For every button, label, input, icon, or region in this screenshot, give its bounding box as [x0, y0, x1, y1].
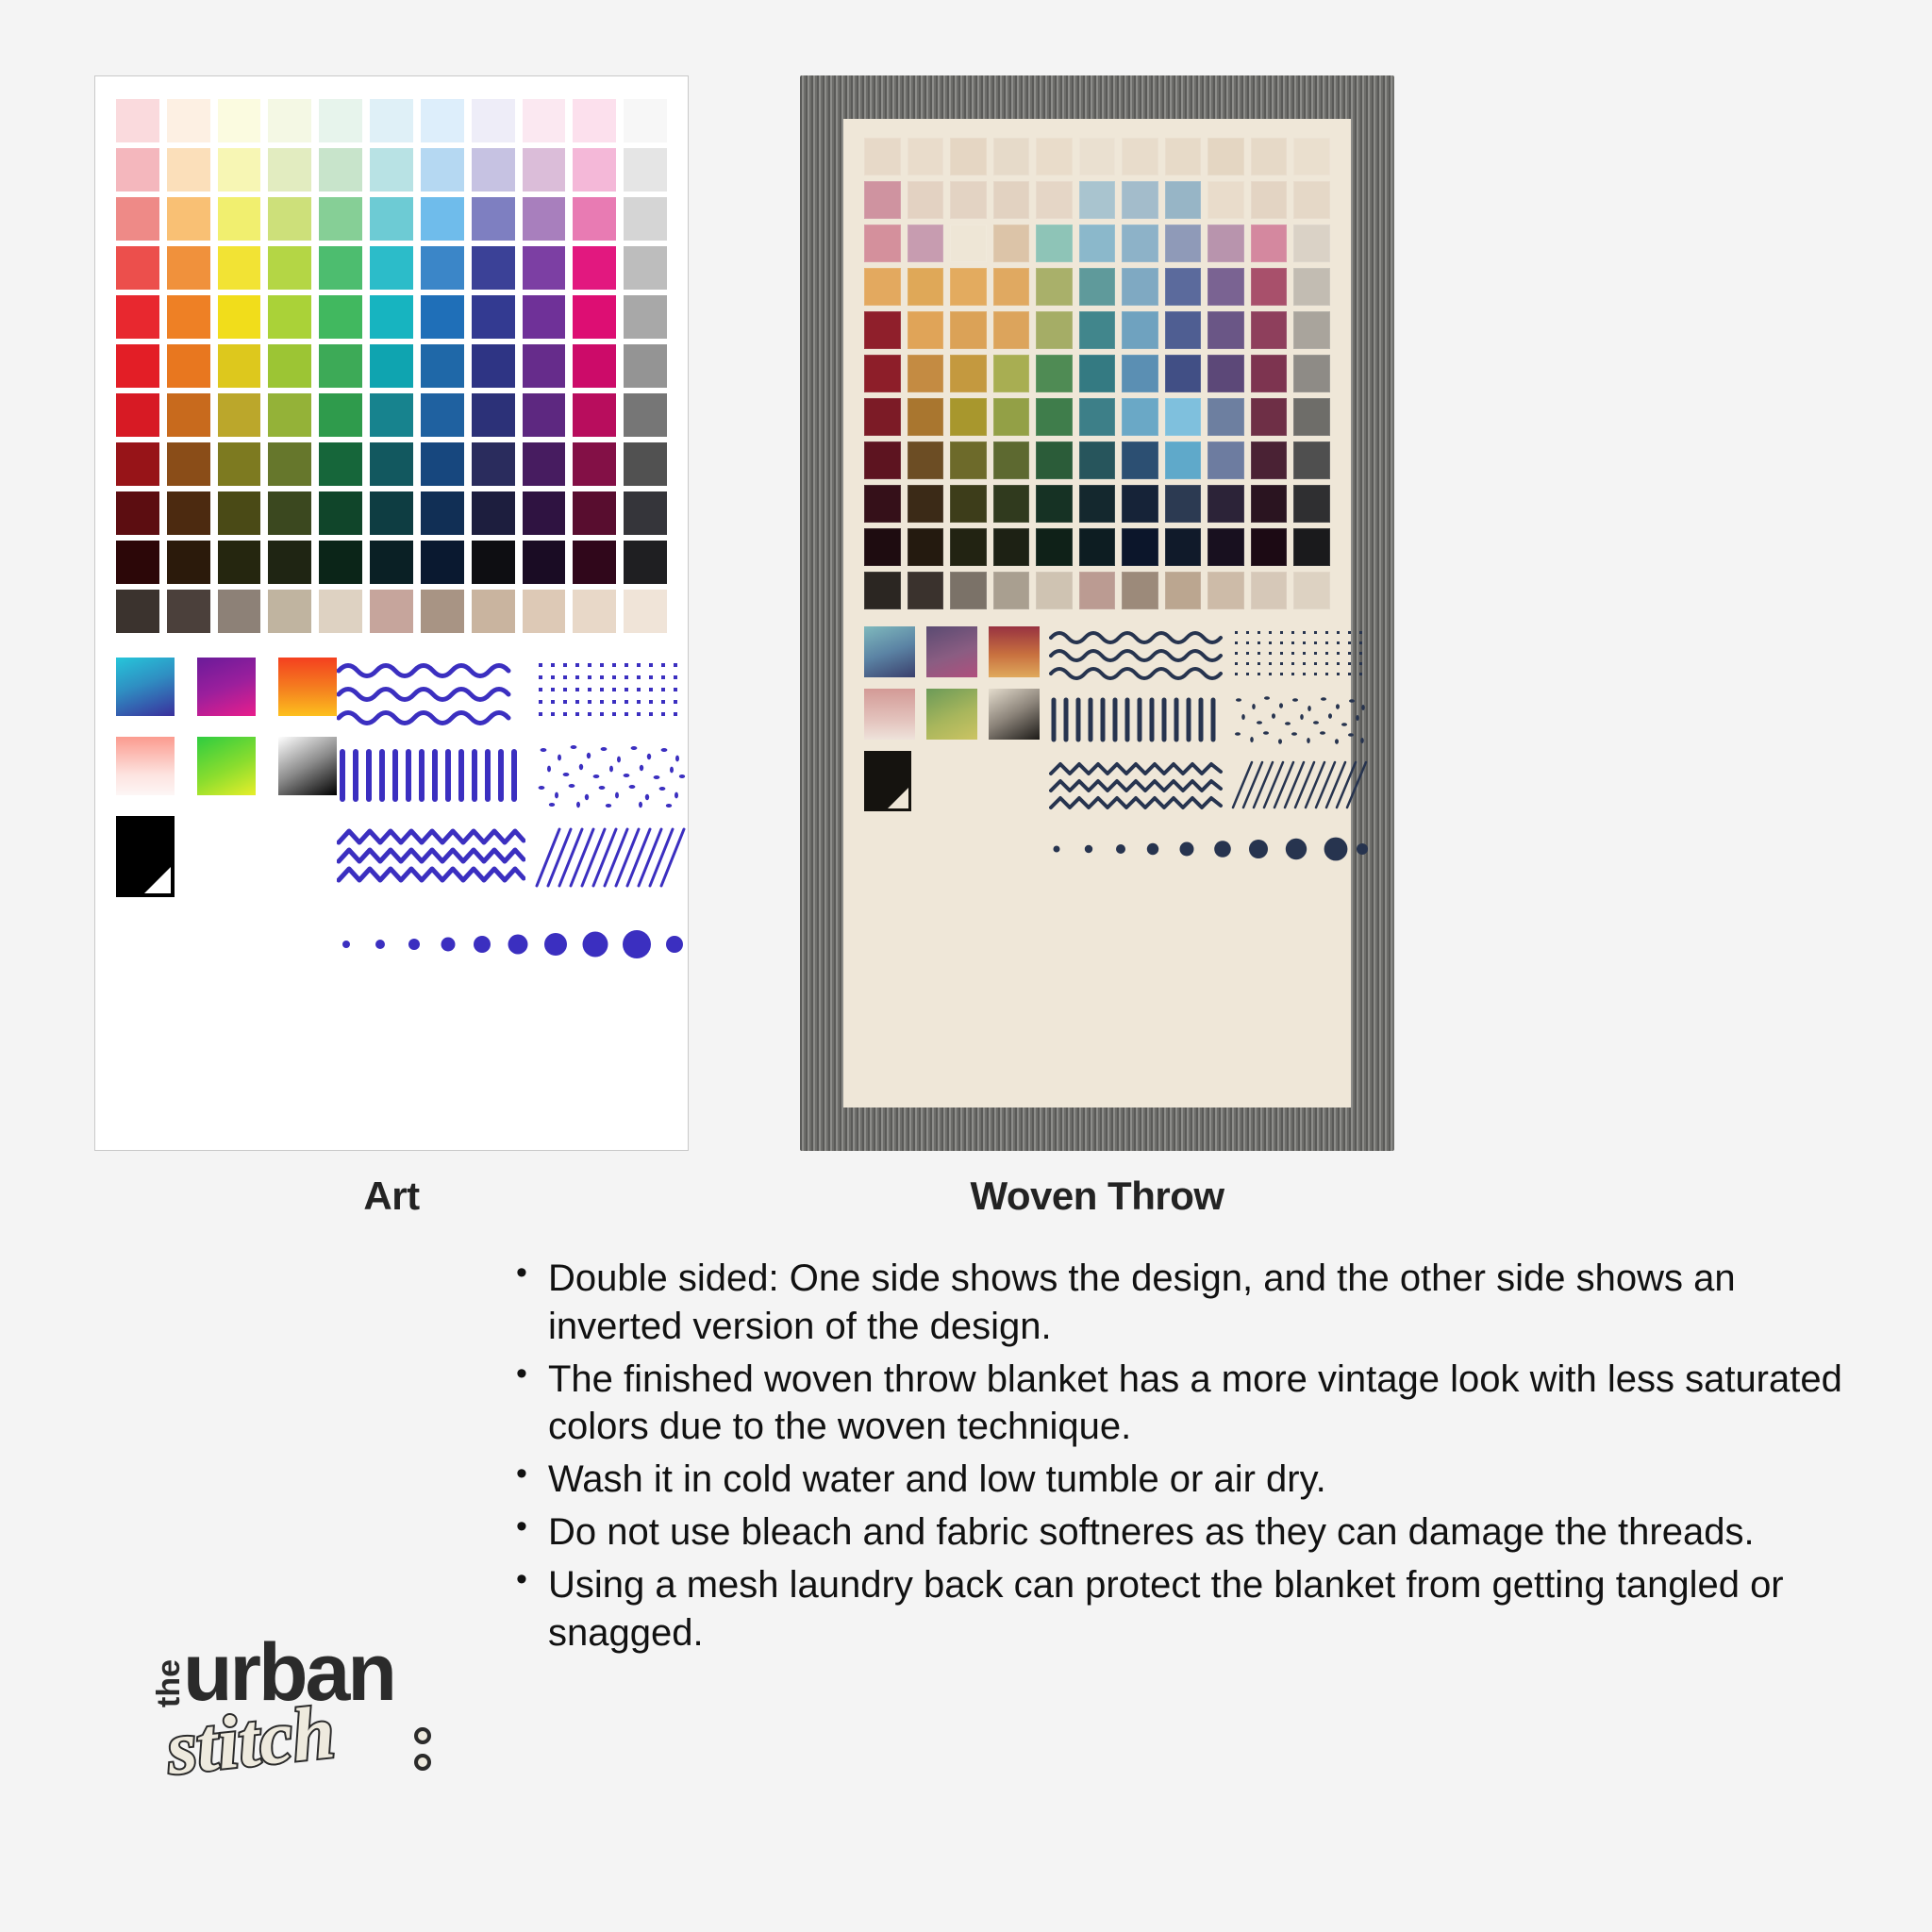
swatch-r5-c5 — [319, 295, 362, 339]
svg-text:the: the — [151, 1659, 187, 1707]
swatch-r2-c4 — [268, 148, 311, 192]
swatch-r8-c7 — [421, 442, 464, 486]
swatch-r8-c9 — [523, 442, 566, 486]
gradient-row-1 — [116, 658, 337, 716]
swatch-r11-c7 — [421, 590, 464, 633]
throw-swatch-r1-c8 — [1165, 138, 1202, 175]
throw-swatch-r11-c8 — [1165, 572, 1202, 609]
throw-pattern-wavy-lines — [1049, 626, 1224, 685]
swatch-r5-c9 — [523, 295, 566, 339]
throw-swatch-r1-c3 — [950, 138, 987, 175]
swatch-r7-c11 — [624, 393, 667, 437]
gradient-salmon-to-white — [116, 737, 175, 795]
throw-swatch-r5-c6 — [1079, 311, 1116, 349]
gradient-green-to-yellow — [197, 737, 256, 795]
list-item: The finished woven throw blanket has a m… — [548, 1356, 1854, 1452]
throw-swatch-r10-c2 — [908, 528, 944, 566]
pattern-row-1 — [337, 658, 686, 731]
product-details-list: Double sided: One side shows the design,… — [514, 1255, 1854, 1661]
throw-swatch-r3-c9 — [1207, 225, 1244, 262]
throw-swatch-r6-c3 — [950, 355, 987, 392]
gradient-purple-to-magenta — [197, 658, 256, 716]
swatch-r10-c9 — [523, 541, 566, 584]
throw-pattern-dot-grid — [1231, 626, 1368, 685]
swatch-r8-c3 — [218, 442, 261, 486]
throw-corner-mark-icon — [864, 751, 911, 811]
throw-swatch-r7-c9 — [1207, 398, 1244, 436]
swatch-r11-c11 — [624, 590, 667, 633]
throw-swatch-r5-c2 — [908, 311, 944, 349]
swatch-r11-c9 — [523, 590, 566, 633]
swatch-r7-c1 — [116, 393, 159, 437]
swatch-r1-c5 — [319, 99, 362, 142]
swatch-r1-c10 — [573, 99, 616, 142]
throw-swatch-r4-c11 — [1293, 268, 1330, 306]
throw-pattern-zigzag-lines — [1049, 755, 1224, 813]
list-item: Using a mesh laundry back can protect th… — [548, 1561, 1854, 1657]
swatch-r6-c9 — [523, 344, 566, 388]
throw-swatch-r10-c9 — [1207, 528, 1244, 566]
pattern-speckle-noise — [535, 739, 686, 812]
throw-pattern-column — [1049, 626, 1368, 866]
throw-swatch-r10-c3 — [950, 528, 987, 566]
swatch-r10-c11 — [624, 541, 667, 584]
throw-swatch-r7-c10 — [1251, 398, 1288, 436]
throw-swatch-r5-c4 — [993, 311, 1030, 349]
swatch-r10-c4 — [268, 541, 311, 584]
throw-swatch-r6-c7 — [1122, 355, 1158, 392]
throw-swatch-r5-c11 — [1293, 311, 1330, 349]
swatch-r7-c4 — [268, 393, 311, 437]
throw-swatch-r3-c1 — [864, 225, 901, 262]
throw-pattern-vertical-stripes — [1049, 691, 1224, 749]
throw-swatch-r4-c7 — [1122, 268, 1158, 306]
throw-swatch-r3-c5 — [1036, 225, 1073, 262]
swatch-r11-c2 — [167, 590, 210, 633]
pattern-vertical-stripes — [337, 739, 525, 812]
throw-swatch-r9-c9 — [1207, 485, 1244, 523]
throw-swatch-r7-c8 — [1165, 398, 1202, 436]
throw-swatch-grid — [864, 138, 1330, 609]
swatch-r6-c3 — [218, 344, 261, 388]
throw-swatch-r11-c11 — [1293, 572, 1330, 609]
swatch-r5-c1 — [116, 295, 159, 339]
pattern-diagonal-hatch — [535, 820, 686, 893]
swatch-r1-c4 — [268, 99, 311, 142]
swatch-r1-c6 — [370, 99, 413, 142]
throw-swatch-r9-c1 — [864, 485, 901, 523]
throw-swatch-r11-c7 — [1122, 572, 1158, 609]
throw-swatch-r4-c1 — [864, 268, 901, 306]
swatch-r4-c3 — [218, 246, 261, 290]
swatch-r6-c1 — [116, 344, 159, 388]
swatch-r7-c2 — [167, 393, 210, 437]
swatch-r1-c11 — [624, 99, 667, 142]
throw-swatch-r9-c2 — [908, 485, 944, 523]
throw-swatch-r10-c6 — [1079, 528, 1116, 566]
swatch-r4-c1 — [116, 246, 159, 290]
swatch-r9-c8 — [472, 491, 515, 535]
art-swatch-grid — [116, 99, 667, 633]
swatch-r6-c11 — [624, 344, 667, 388]
throw-swatch-r6-c4 — [993, 355, 1030, 392]
swatch-r10-c6 — [370, 541, 413, 584]
swatch-r9-c6 — [370, 491, 413, 535]
throw-swatch-r6-c8 — [1165, 355, 1202, 392]
swatch-r2-c10 — [573, 148, 616, 192]
throw-swatch-r7-c7 — [1122, 398, 1158, 436]
swatch-r9-c5 — [319, 491, 362, 535]
throw-swatch-r10-c7 — [1122, 528, 1158, 566]
throw-swatch-r9-c3 — [950, 485, 987, 523]
swatch-r8-c5 — [319, 442, 362, 486]
throw-swatch-r2-c11 — [1293, 181, 1330, 219]
throw-swatch-r9-c7 — [1122, 485, 1158, 523]
list-item: Double sided: One side shows the design,… — [548, 1255, 1854, 1351]
brand-logo[interactable]: the urban stitch — [140, 1594, 451, 1792]
swatch-r11-c6 — [370, 590, 413, 633]
gradient-column — [116, 658, 337, 965]
swatch-r4-c11 — [624, 246, 667, 290]
throw-swatch-r6-c6 — [1079, 355, 1116, 392]
throw-swatch-r5-c5 — [1036, 311, 1073, 349]
throw-swatch-r10-c10 — [1251, 528, 1288, 566]
throw-gradient-cyan-to-indigo — [864, 626, 915, 677]
swatch-r1-c1 — [116, 99, 159, 142]
woven-throw-panel[interactable] — [800, 75, 1394, 1151]
throw-swatch-r6-c5 — [1036, 355, 1073, 392]
throw-swatch-r8-c5 — [1036, 441, 1073, 479]
pattern-dot-grid — [535, 658, 686, 731]
throw-swatch-r7-c4 — [993, 398, 1030, 436]
swatch-r9-c10 — [573, 491, 616, 535]
throw-swatch-r4-c4 — [993, 268, 1030, 306]
swatch-r8-c10 — [573, 442, 616, 486]
swatch-r3-c9 — [523, 197, 566, 241]
corner-mark-icon — [116, 816, 175, 897]
throw-swatch-r6-c10 — [1251, 355, 1288, 392]
swatch-r6-c8 — [472, 344, 515, 388]
swatch-r6-c5 — [319, 344, 362, 388]
throw-swatch-r5-c8 — [1165, 311, 1202, 349]
throw-swatch-r8-c3 — [950, 441, 987, 479]
throw-pattern-row-3 — [1049, 755, 1368, 813]
swatch-r5-c3 — [218, 295, 261, 339]
throw-swatch-r1-c5 — [1036, 138, 1073, 175]
throw-swatch-r1-c2 — [908, 138, 944, 175]
throw-gradient-purple-to-magenta — [926, 626, 977, 677]
throw-swatch-r8-c10 — [1251, 441, 1288, 479]
throw-swatch-r7-c5 — [1036, 398, 1073, 436]
swatch-r3-c5 — [319, 197, 362, 241]
swatch-r7-c9 — [523, 393, 566, 437]
throw-gradient-column — [864, 626, 1040, 866]
swatch-r9-c3 — [218, 491, 261, 535]
throw-swatch-r2-c3 — [950, 181, 987, 219]
swatch-r2-c5 — [319, 148, 362, 192]
swatch-r8-c2 — [167, 442, 210, 486]
swatch-r8-c11 — [624, 442, 667, 486]
swatch-r2-c11 — [624, 148, 667, 192]
throw-pattern-diagonal-hatch — [1231, 755, 1368, 813]
throw-swatch-r2-c6 — [1079, 181, 1116, 219]
swatch-r7-c6 — [370, 393, 413, 437]
throw-swatch-r3-c4 — [993, 225, 1030, 262]
swatch-r1-c7 — [421, 99, 464, 142]
gradient-row-2 — [116, 737, 337, 795]
throw-swatch-r7-c11 — [1293, 398, 1330, 436]
throw-swatch-r4-c9 — [1207, 268, 1244, 306]
swatch-r11-c8 — [472, 590, 515, 633]
throw-swatch-r3-c2 — [908, 225, 944, 262]
throw-swatch-r2-c1 — [864, 181, 901, 219]
swatch-r3-c6 — [370, 197, 413, 241]
art-extras — [116, 658, 667, 965]
swatch-r7-c8 — [472, 393, 515, 437]
swatch-r6-c10 — [573, 344, 616, 388]
throw-swatch-r4-c8 — [1165, 268, 1202, 306]
swatch-r7-c3 — [218, 393, 261, 437]
throw-swatch-r5-c1 — [864, 311, 901, 349]
swatch-r9-c1 — [116, 491, 159, 535]
throw-swatch-r8-c9 — [1207, 441, 1244, 479]
art-panel[interactable] — [94, 75, 689, 1151]
swatch-r2-c3 — [218, 148, 261, 192]
swatch-r8-c1 — [116, 442, 159, 486]
swatch-r10-c7 — [421, 541, 464, 584]
throw-swatch-r8-c6 — [1079, 441, 1116, 479]
swatch-r3-c2 — [167, 197, 210, 241]
throw-swatch-r8-c1 — [864, 441, 901, 479]
throw-swatch-r5-c10 — [1251, 311, 1288, 349]
throw-gradient-white-to-black — [989, 689, 1040, 740]
swatch-r1-c8 — [472, 99, 515, 142]
throw-gradient-green-to-yellow — [926, 689, 977, 740]
throw-swatch-r7-c1 — [864, 398, 901, 436]
swatch-r10-c8 — [472, 541, 515, 584]
throw-swatch-r1-c10 — [1251, 138, 1288, 175]
throw-swatch-r8-c2 — [908, 441, 944, 479]
swatch-r1-c2 — [167, 99, 210, 142]
product-panels: Art Woven Throw — [0, 0, 1932, 1170]
throw-swatch-r6-c1 — [864, 355, 901, 392]
swatch-r2-c1 — [116, 148, 159, 192]
throw-swatch-r11-c6 — [1079, 572, 1116, 609]
throw-swatch-r5-c7 — [1122, 311, 1158, 349]
gradient-white-to-black — [278, 737, 337, 795]
throw-swatch-r10-c11 — [1293, 528, 1330, 566]
throw-swatch-r9-c8 — [1165, 485, 1202, 523]
throw-swatch-r5-c9 — [1207, 311, 1244, 349]
throw-swatch-r3-c6 — [1079, 225, 1116, 262]
gradient-red-to-amber — [278, 658, 337, 716]
throw-pattern-row-2 — [1049, 691, 1368, 749]
throw-swatch-r1-c1 — [864, 138, 901, 175]
swatch-r6-c6 — [370, 344, 413, 388]
swatch-r4-c9 — [523, 246, 566, 290]
throw-swatch-r3-c3 — [950, 225, 987, 262]
swatch-r5-c11 — [624, 295, 667, 339]
swatch-r11-c3 — [218, 590, 261, 633]
throw-pattern-graduated-dots — [1049, 830, 1368, 866]
throw-swatch-r2-c8 — [1165, 181, 1202, 219]
swatch-r4-c4 — [268, 246, 311, 290]
swatch-r10-c3 — [218, 541, 261, 584]
woven-throw-caption: Woven Throw — [800, 1174, 1394, 1219]
swatch-r11-c1 — [116, 590, 159, 633]
throw-swatch-r1-c7 — [1122, 138, 1158, 175]
pattern-row-2 — [337, 739, 686, 812]
throw-swatch-r9-c10 — [1251, 485, 1288, 523]
swatch-r9-c11 — [624, 491, 667, 535]
throw-swatch-r8-c8 — [1165, 441, 1202, 479]
throw-swatch-r6-c11 — [1293, 355, 1330, 392]
throw-swatch-r11-c5 — [1036, 572, 1073, 609]
throw-swatch-r9-c5 — [1036, 485, 1073, 523]
throw-swatch-r1-c6 — [1079, 138, 1116, 175]
throw-swatch-r6-c2 — [908, 355, 944, 392]
swatch-r7-c10 — [573, 393, 616, 437]
swatch-r4-c2 — [167, 246, 210, 290]
pattern-wavy-lines — [337, 658, 525, 731]
swatch-r4-c7 — [421, 246, 464, 290]
list-item: Wash it in cold water and low tumble or … — [548, 1456, 1854, 1504]
swatch-r1-c9 — [523, 99, 566, 142]
throw-swatch-r4-c3 — [950, 268, 987, 306]
throw-swatch-r7-c6 — [1079, 398, 1116, 436]
throw-swatch-r1-c11 — [1293, 138, 1330, 175]
swatch-r9-c7 — [421, 491, 464, 535]
throw-swatch-r2-c5 — [1036, 181, 1073, 219]
throw-swatch-r1-c9 — [1207, 138, 1244, 175]
throw-swatch-r10-c5 — [1036, 528, 1073, 566]
throw-extras — [864, 626, 1330, 866]
throw-swatch-r9-c11 — [1293, 485, 1330, 523]
swatch-r1-c3 — [218, 99, 261, 142]
art-caption: Art — [94, 1174, 689, 1219]
swatch-r7-c7 — [421, 393, 464, 437]
throw-gradient-red-to-amber — [989, 626, 1040, 677]
throw-swatch-r2-c4 — [993, 181, 1030, 219]
throw-swatch-r2-c7 — [1122, 181, 1158, 219]
gradient-cyan-to-indigo — [116, 658, 175, 716]
swatch-r5-c8 — [472, 295, 515, 339]
throw-pattern-row-4 — [1049, 830, 1368, 866]
throw-swatch-r3-c10 — [1251, 225, 1288, 262]
pattern-row-4 — [337, 922, 686, 965]
bullet-list: Double sided: One side shows the design,… — [514, 1255, 1854, 1657]
throw-swatch-r11-c10 — [1251, 572, 1288, 609]
throw-pattern-speckle-noise — [1231, 691, 1368, 749]
swatch-r7-c5 — [319, 393, 362, 437]
pattern-row-3 — [337, 820, 686, 893]
throw-swatch-r7-c3 — [950, 398, 987, 436]
throw-swatch-r2-c9 — [1207, 181, 1244, 219]
pattern-zigzag-lines — [337, 820, 525, 893]
swatch-r9-c4 — [268, 491, 311, 535]
swatch-r11-c4 — [268, 590, 311, 633]
throw-swatch-r11-c9 — [1207, 572, 1244, 609]
swatch-r2-c7 — [421, 148, 464, 192]
swatch-r2-c6 — [370, 148, 413, 192]
swatch-r6-c4 — [268, 344, 311, 388]
throw-swatch-r11-c3 — [950, 572, 987, 609]
throw-swatch-r3-c11 — [1293, 225, 1330, 262]
throw-swatch-r3-c8 — [1165, 225, 1202, 262]
swatch-r8-c8 — [472, 442, 515, 486]
throw-gradient-salmon-to-white — [864, 689, 915, 740]
swatch-r10-c5 — [319, 541, 362, 584]
throw-swatch-r11-c2 — [908, 572, 944, 609]
throw-swatch-r11-c4 — [993, 572, 1030, 609]
swatch-r3-c10 — [573, 197, 616, 241]
throw-gradient-row-1 — [864, 626, 1040, 677]
swatch-r2-c8 — [472, 148, 515, 192]
throw-fabric — [843, 119, 1351, 1108]
swatch-r3-c1 — [116, 197, 159, 241]
swatch-r11-c5 — [319, 590, 362, 633]
throw-swatch-r4-c6 — [1079, 268, 1116, 306]
throw-swatch-r1-c4 — [993, 138, 1030, 175]
swatch-r5-c2 — [167, 295, 210, 339]
throw-swatch-r2-c2 — [908, 181, 944, 219]
throw-swatch-r10-c8 — [1165, 528, 1202, 566]
swatch-r8-c6 — [370, 442, 413, 486]
throw-swatch-r5-c3 — [950, 311, 987, 349]
throw-pattern-row-1 — [1049, 626, 1368, 685]
swatch-r6-c2 — [167, 344, 210, 388]
throw-swatch-r4-c5 — [1036, 268, 1073, 306]
throw-swatch-r4-c2 — [908, 268, 944, 306]
swatch-r2-c9 — [523, 148, 566, 192]
throw-swatch-r10-c1 — [864, 528, 901, 566]
swatch-r5-c7 — [421, 295, 464, 339]
swatch-r3-c8 — [472, 197, 515, 241]
throw-swatch-r6-c9 — [1207, 355, 1244, 392]
swatch-r11-c10 — [573, 590, 616, 633]
swatch-r3-c11 — [624, 197, 667, 241]
swatch-r3-c7 — [421, 197, 464, 241]
list-item: Do not use bleach and fabric softneres a… — [548, 1508, 1854, 1557]
throw-swatch-r4-c10 — [1251, 268, 1288, 306]
throw-swatch-r7-c2 — [908, 398, 944, 436]
swatch-r10-c1 — [116, 541, 159, 584]
swatch-r5-c4 — [268, 295, 311, 339]
swatch-r5-c10 — [573, 295, 616, 339]
throw-swatch-r11-c1 — [864, 572, 901, 609]
throw-swatch-r2-c10 — [1251, 181, 1288, 219]
svg-text:stitch: stitch — [162, 1690, 339, 1790]
swatch-r4-c5 — [319, 246, 362, 290]
pattern-graduated-dots — [337, 922, 686, 965]
swatch-r9-c2 — [167, 491, 210, 535]
throw-swatch-r9-c4 — [993, 485, 1030, 523]
swatch-r5-c6 — [370, 295, 413, 339]
swatch-r3-c4 — [268, 197, 311, 241]
swatch-r6-c7 — [421, 344, 464, 388]
swatch-r4-c10 — [573, 246, 616, 290]
pattern-column — [337, 658, 686, 965]
swatch-r2-c2 — [167, 148, 210, 192]
throw-swatch-r8-c4 — [993, 441, 1030, 479]
swatch-r4-c8 — [472, 246, 515, 290]
swatch-r10-c10 — [573, 541, 616, 584]
throw-swatch-r10-c4 — [993, 528, 1030, 566]
swatch-r8-c4 — [268, 442, 311, 486]
throw-swatch-r3-c7 — [1122, 225, 1158, 262]
throw-swatch-r8-c11 — [1293, 441, 1330, 479]
swatch-r10-c2 — [167, 541, 210, 584]
